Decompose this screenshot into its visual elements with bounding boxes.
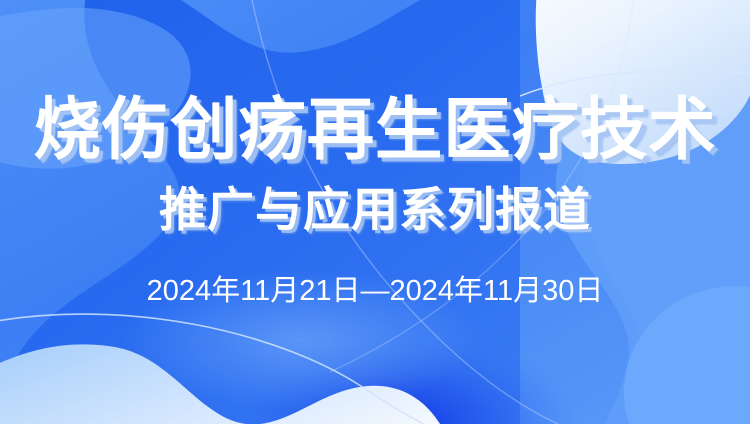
date-range-label: 2024年11月21日—2024年11月30日 [147,277,604,306]
page-subtitle: 推广与应用系列报道 [159,186,591,233]
page-title: 烧伤创疡再生医疗技术 [33,96,716,164]
promo-banner: 烧伤创疡再生医疗技术 推广与应用系列报道 2024年11月21日—2024年11… [0,0,750,424]
banner-content: 烧伤创疡再生医疗技术 推广与应用系列报道 2024年11月21日—2024年11… [0,0,750,424]
